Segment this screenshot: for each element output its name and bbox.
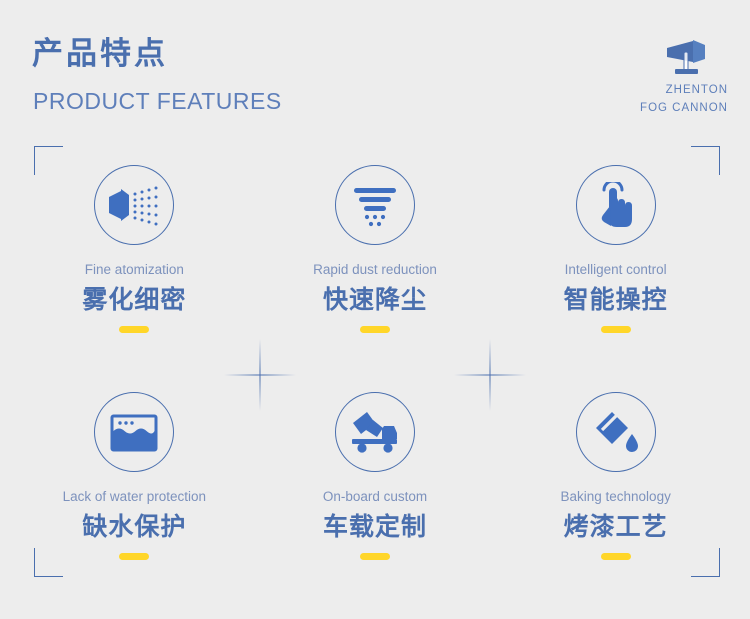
- feature-icon-circle: [576, 165, 656, 245]
- paint-bucket-icon: [592, 409, 640, 455]
- feature-grid: Fine atomization 雾化细密 Rapid dust reducti…: [14, 165, 736, 619]
- brand-logo: ZHENTON FOG CANNON: [568, 36, 728, 116]
- feature-label-cn: 智能操控: [564, 287, 668, 315]
- feature-label-en: Lack of water protection: [63, 490, 206, 504]
- feature-icon-circle: [94, 165, 174, 245]
- brand-name-line2: FOG CANNON: [568, 101, 728, 116]
- page-header: 产品特点 PRODUCT FEATURES ZHENTON FOG CANNON: [0, 0, 750, 135]
- feature-label-en: Baking technology: [561, 490, 671, 504]
- feature-label-cn: 缺水保护: [82, 514, 186, 542]
- feature-underline: [119, 326, 149, 333]
- feature-underline: [360, 553, 390, 560]
- feature-underline: [601, 553, 631, 560]
- feature-underline: [119, 553, 149, 560]
- feature-underline: [360, 326, 390, 333]
- feature-label-cn: 雾化细密: [82, 287, 186, 315]
- feature-label-en: Fine atomization: [85, 263, 184, 277]
- brand-name-line1: ZHENTON: [568, 83, 728, 98]
- feature-item: Rapid dust reduction 快速降尘: [255, 165, 496, 392]
- feature-icon-circle: [335, 165, 415, 245]
- feature-item: Fine atomization 雾化细密: [14, 165, 255, 392]
- feature-label-cn: 快速降尘: [323, 287, 427, 315]
- feature-item: Baking technology 烤漆工艺: [495, 392, 736, 619]
- feature-icon-circle: [94, 392, 174, 472]
- touch-hand-icon: [594, 182, 638, 228]
- page-title-cn: 产品特点: [32, 38, 168, 69]
- feature-label-cn: 车载定制: [323, 514, 427, 542]
- feature-underline: [601, 326, 631, 333]
- cannon-truck-icon: [349, 410, 401, 454]
- feature-icon-circle: [335, 392, 415, 472]
- feature-item: Lack of water protection 缺水保护: [14, 392, 255, 619]
- dust-filter-icon: [352, 183, 398, 227]
- feature-label-en: Intelligent control: [565, 263, 667, 277]
- water-tank-icon: [110, 412, 158, 452]
- feature-label-en: Rapid dust reduction: [313, 263, 437, 277]
- feature-item: Intelligent control 智能操控: [495, 165, 736, 392]
- page-title-en: PRODUCT FEATURES: [33, 90, 282, 113]
- feature-label-en: On-board custom: [323, 490, 427, 504]
- feature-item: On-board custom 车载定制: [255, 392, 496, 619]
- feature-icon-circle: [576, 392, 656, 472]
- spray-nozzle-icon: [107, 183, 161, 227]
- feature-label-cn: 烤漆工艺: [564, 514, 668, 542]
- fog-cannon-icon: [660, 36, 712, 80]
